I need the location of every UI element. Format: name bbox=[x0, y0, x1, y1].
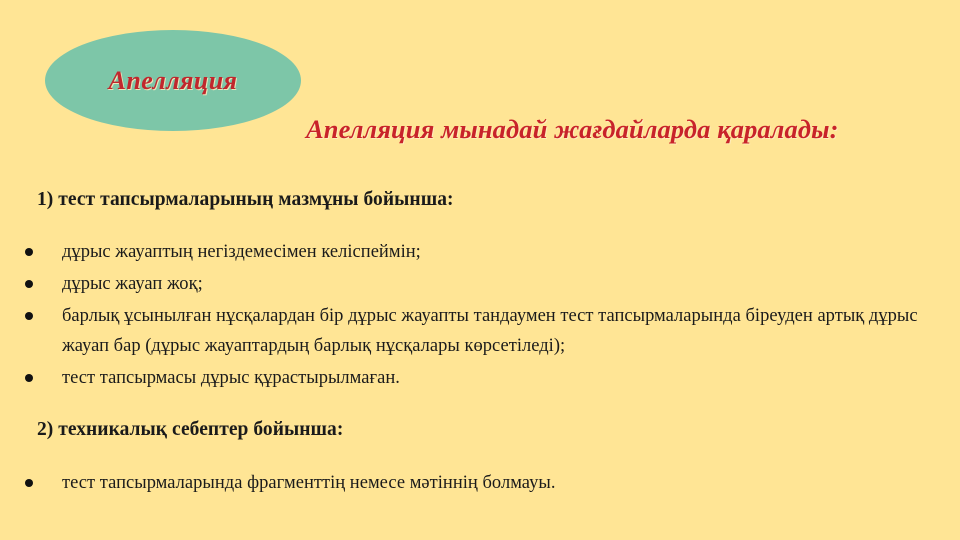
list-item: дұрыс жауаптың негіздемесімен келіспеймі… bbox=[0, 237, 960, 267]
slide-canvas: Апелляция Апелляция мынадай жағдайларда … bbox=[0, 0, 960, 540]
list-item-text: тест тапсырмаларында фрагменттің немесе … bbox=[62, 468, 952, 498]
list-item: тест тапсырмасы дұрыс құрастырылмаған. bbox=[0, 363, 960, 393]
list-item: барлық ұсынылған нұсқалардан бір дұрыс ж… bbox=[0, 301, 960, 361]
title-badge-ellipse: Апелляция bbox=[45, 30, 301, 131]
list-item: дұрыс жауап жоқ; bbox=[0, 269, 960, 299]
bullet-disc-icon bbox=[25, 312, 33, 320]
list-item-text: барлық ұсынылған нұсқалардан бір дұрыс ж… bbox=[62, 301, 952, 361]
list-item-text: дұрыс жауап жоқ; bbox=[62, 269, 952, 299]
section-heading-1: 1) тест тапсырмаларының мазмұны бойынша: bbox=[37, 189, 454, 211]
bullet-disc-icon bbox=[25, 479, 33, 487]
title-badge-label: Апелляция bbox=[109, 66, 238, 96]
list-item-text: дұрыс жауаптың негіздемесімен келіспеймі… bbox=[62, 237, 952, 267]
bullet-list-1: дұрыс жауаптың негіздемесімен келіспеймі… bbox=[0, 237, 960, 393]
bullet-disc-icon bbox=[25, 248, 33, 256]
slide-heading: Апелляция мынадай жағдайларда қаралады: bbox=[306, 114, 952, 145]
bullet-disc-icon bbox=[25, 280, 33, 288]
list-item: тест тапсырмаларында фрагменттің немесе … bbox=[0, 468, 960, 498]
list-item-text: тест тапсырмасы дұрыс құрастырылмаған. bbox=[62, 363, 952, 393]
bullet-disc-icon bbox=[25, 374, 33, 382]
section-heading-2: 2) техникалық себептер бойынша: bbox=[37, 419, 343, 441]
bullet-list-2: тест тапсырмаларында фрагменттің немесе … bbox=[0, 468, 960, 498]
